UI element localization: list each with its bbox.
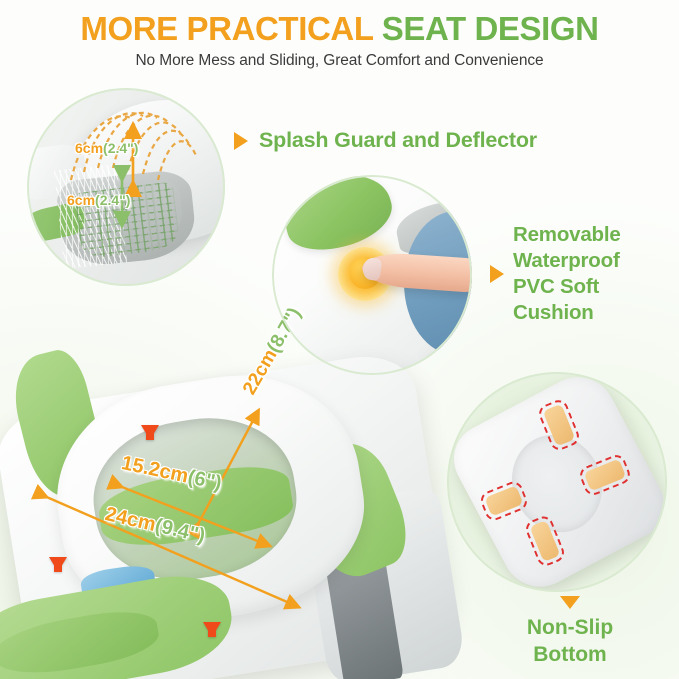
callout-splash-guard-label: Splash Guard and Deflector [259, 128, 537, 153]
page-title: MORE PRACTICAL SEAT DESIGN [0, 8, 679, 50]
callout-non-slip-label: Non-Slip Bottom [527, 614, 613, 668]
page-subtitle: No More Mess and Sliding, Great Comfort … [0, 52, 679, 70]
triangle-right-icon [490, 265, 504, 283]
callout-splash-guard: Splash Guard and Deflector [234, 128, 537, 153]
callout-non-slip-line-2: Bottom [527, 641, 613, 668]
infographic-canvas: MORE PRACTICAL SEAT DESIGN No More Mess … [0, 0, 679, 679]
callout-cushion-line-4: Cushion [513, 300, 621, 326]
splash-measure-top: 6cm(2.4") [75, 140, 138, 156]
title-green-part: SEAT DESIGN [382, 10, 599, 47]
splash-guard-photo-circle: 6cm(2.4") 6cm(2.4") [27, 88, 225, 286]
callout-cushion-line-1: Removable [513, 222, 621, 248]
callout-cushion-line-3: PVC Soft [513, 274, 621, 300]
non-slip-bottom-photo-circle [447, 372, 667, 592]
callout-cushion: Removable Waterproof PVC Soft Cushion [490, 222, 621, 326]
callout-cushion-label: Removable Waterproof PVC Soft Cushion [513, 222, 621, 326]
title-orange-part: MORE PRACTICAL [80, 10, 381, 47]
splash-guard-scene: 6cm(2.4") 6cm(2.4") [27, 88, 225, 286]
callout-non-slip: Non-Slip Bottom [500, 596, 640, 668]
splash-measure-bottom: 6cm(2.4") [67, 192, 130, 208]
callout-cushion-line-2: Waterproof [513, 248, 621, 274]
callout-non-slip-line-1: Non-Slip [527, 614, 613, 641]
triangle-down-icon [560, 596, 580, 609]
triangle-right-icon [234, 132, 248, 150]
measurement-arrows [27, 88, 225, 286]
hero-dimension-arrows [0, 360, 420, 679]
